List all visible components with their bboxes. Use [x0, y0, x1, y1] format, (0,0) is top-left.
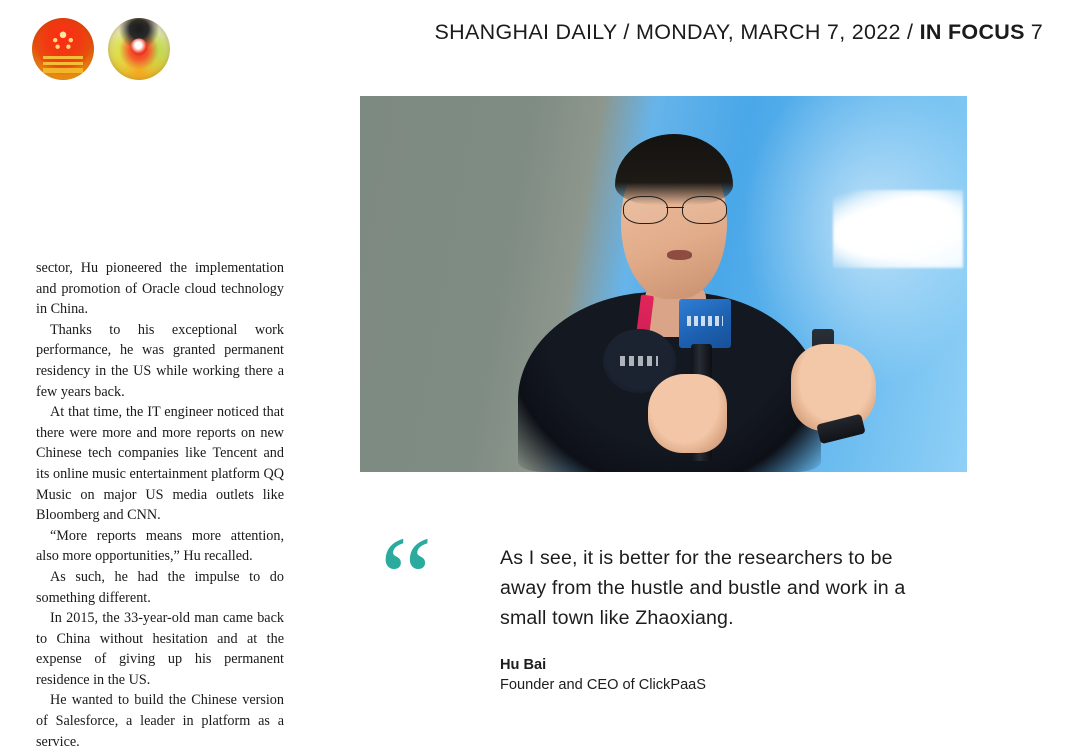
- photo-subject-right-hand: [791, 344, 876, 430]
- photo-subject-mouth: [667, 250, 692, 260]
- photo-cloud: [833, 190, 963, 268]
- glasses-left-lens: [623, 196, 667, 224]
- story-paragraph: sector, Hu pioneered the implementation …: [36, 258, 284, 320]
- header-separator-1: /: [617, 20, 636, 44]
- story-paragraph: “More reports means more attention, also…: [36, 526, 284, 567]
- pull-quote-attribution: Hu Bai Founder and CEO of ClickPaaS: [500, 655, 920, 695]
- story-paragraph: At that time, the IT engineer noticed th…: [36, 402, 284, 526]
- header-page-number: 7: [1031, 20, 1043, 44]
- header-publication: SHANGHAI DAILY: [435, 20, 618, 44]
- header-separator-2: /: [901, 20, 920, 44]
- photo-subject-left-hand: [648, 374, 727, 453]
- story-paragraph: Thanks to his exceptional work performan…: [36, 320, 284, 402]
- header-date: MONDAY, MARCH 7, 2022: [636, 20, 901, 44]
- pull-quote-text: As I see, it is better for the researche…: [500, 543, 920, 633]
- feature-photo: [360, 96, 967, 472]
- story-paragraph: As such, he had the impulse to do someth…: [36, 567, 284, 608]
- national-emblem-of-china-icon: [32, 18, 94, 80]
- photo-subject-glasses: [623, 196, 726, 222]
- story-column: sector, Hu pioneered the implementation …: [36, 258, 284, 752]
- masthead-emblems: [32, 18, 170, 80]
- glasses-right-lens: [682, 196, 726, 224]
- pull-quote-block: As I see, it is better for the researche…: [500, 543, 920, 695]
- cppcc-emblem-icon: [108, 18, 170, 80]
- quotation-mark-icon: “: [380, 519, 432, 637]
- header-section: IN FOCUS: [920, 20, 1025, 44]
- pull-quote-attribution-role: Founder and CEO of ClickPaaS: [500, 675, 920, 695]
- photo-microphone-head: [679, 299, 731, 348]
- pull-quote-attribution-name: Hu Bai: [500, 655, 920, 675]
- story-paragraph: In 2015, the 33-year-old man came back t…: [36, 608, 284, 690]
- story-paragraph: He wanted to build the Chinese version o…: [36, 690, 284, 752]
- running-header: SHANGHAI DAILY / MONDAY, MARCH 7, 2022 /…: [435, 20, 1043, 45]
